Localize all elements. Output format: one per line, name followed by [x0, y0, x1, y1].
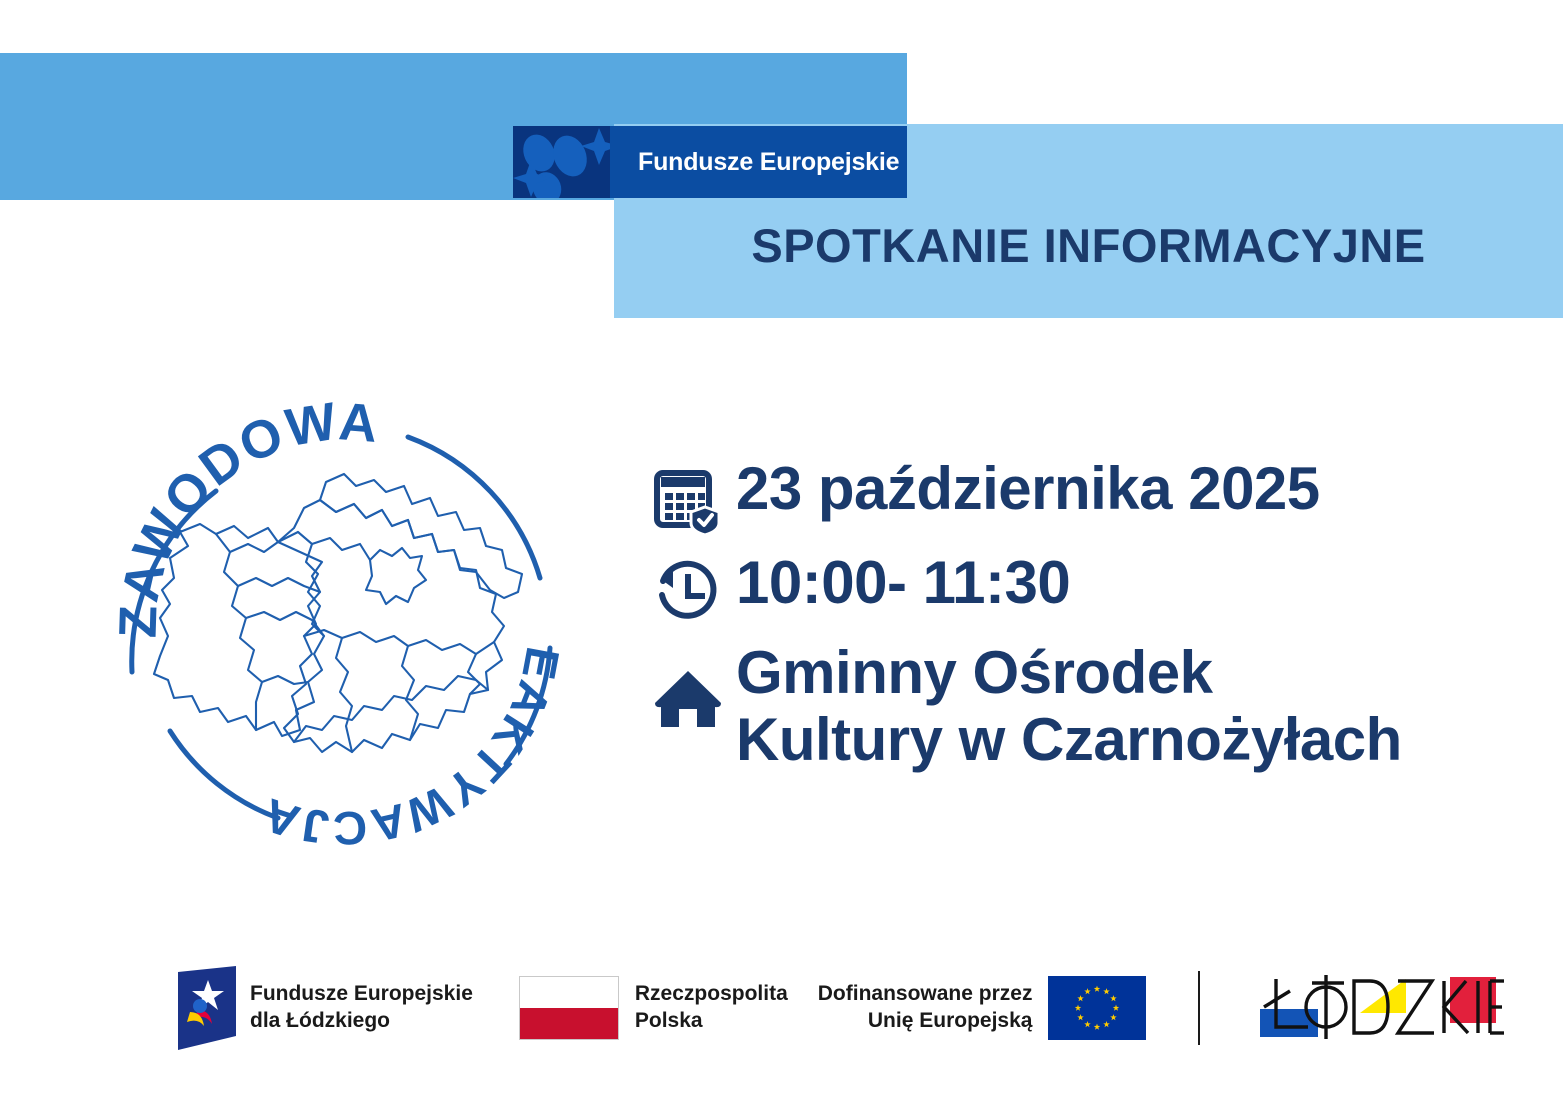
fe-stars-logo-icon [513, 126, 610, 198]
vertical-divider-icon [1198, 971, 1200, 1045]
page-title: SPOTKANIE INFORMACYJNE [614, 218, 1563, 273]
clock-icon [640, 549, 736, 629]
detail-row-place: Gminny Ośrodek Kultury w Czarnożyłach [640, 639, 1540, 773]
event-time: 10:00- 11:30 [736, 549, 1070, 616]
european-union-label: Dofinansowane przez Unię Europejską [818, 981, 1033, 1034]
emblem-top-label: ZAWODOWA [109, 392, 382, 639]
fundusze-europejskie-flag-icon [178, 966, 236, 1050]
footer-logo-rzeczpospolita: Rzeczpospolita Polska [519, 976, 788, 1040]
event-date: 23 października 2025 [736, 455, 1320, 522]
event-place: Gminny Ośrodek Kultury w Czarnożyłach [736, 639, 1402, 773]
eu-flag-icon [1048, 976, 1146, 1040]
poland-flag-icon [519, 976, 619, 1040]
fundusze-europejskie-banner: Fundusze Europejskie [513, 126, 907, 198]
home-icon [640, 639, 736, 735]
poland-flag-white-stripe [520, 977, 618, 1008]
poland-flag-red-stripe [520, 1008, 618, 1039]
lodzkie-wordmark-icon [1252, 969, 1504, 1047]
footer-logo-strip: Fundusze Europejskie dla Łódzkiego Rzecz… [0, 950, 1563, 1065]
footer-logo-fundusze: Fundusze Europejskie dla Łódzkiego [178, 966, 473, 1050]
rzeczpospolita-label: Rzeczpospolita Polska [635, 981, 788, 1034]
fe-banner-label: Fundusze Europejskie [610, 148, 899, 177]
fundusze-europejskie-label: Fundusze Europejskie dla Łódzkiego [250, 981, 473, 1034]
lodzkie-voivodeship-map-icon [154, 474, 522, 752]
footer-logo-european-union: Dofinansowane przez Unię Europejską [818, 976, 1147, 1040]
poster-canvas: Fundusze Europejskie SPOTKANIE INFORMACY… [0, 0, 1563, 1105]
calendar-check-icon [640, 455, 736, 539]
detail-row-time: 10:00- 11:30 [640, 549, 1540, 629]
detail-row-date: 23 października 2025 [640, 455, 1540, 539]
event-details-list: 23 października 2025 10:00- 11:30 Gminny… [640, 455, 1540, 783]
zawodowa-reaktywacja-emblem: ZAWODOWA REAKTYWACJA [108, 392, 578, 862]
